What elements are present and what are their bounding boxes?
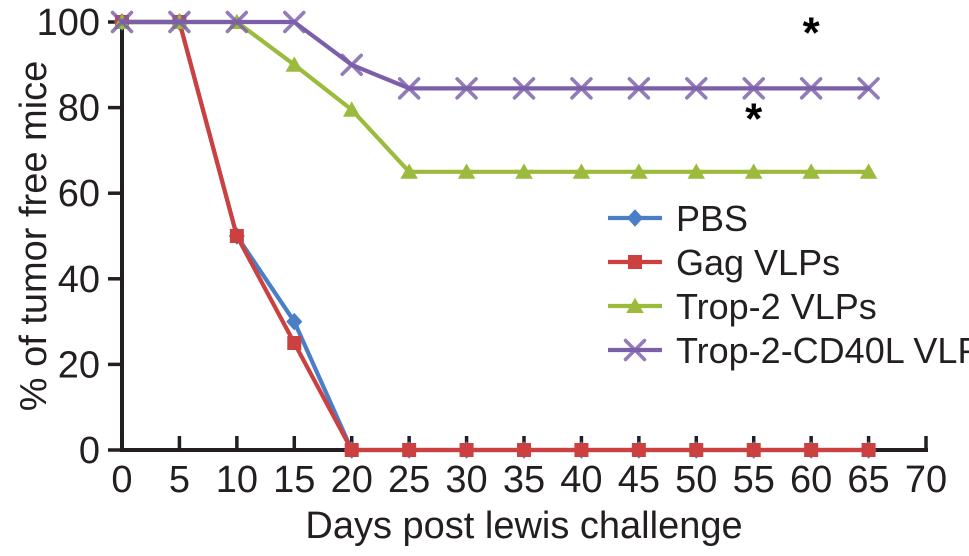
data-point-marker (517, 443, 531, 457)
x-tick-label: 40 (560, 459, 602, 501)
survival-chart-figure: 020406080100 051015202530354045505560657… (0, 0, 969, 556)
x-axis-title: Days post lewis challenge (305, 505, 742, 547)
data-point-marker (402, 443, 416, 457)
significance-asterisk: * (803, 9, 821, 58)
legend-label: Trop-2-CD40L VLPs (676, 330, 969, 371)
y-axis-title: % of tumor free mice (13, 61, 55, 412)
data-point-marker (345, 443, 359, 457)
series-trop-2-cd40l-vlps (113, 13, 878, 98)
legend-label: PBS (676, 198, 748, 239)
y-tick-label: 40 (58, 259, 100, 301)
data-point-marker (460, 443, 474, 457)
y-tick-label: 0 (79, 430, 100, 472)
x-tick-label: 60 (790, 459, 832, 501)
x-tick-label: 35 (503, 459, 545, 501)
x-tick-label: 0 (111, 459, 132, 501)
data-point-marker (230, 229, 244, 243)
x-tick-label: 55 (733, 459, 775, 501)
legend-label: Gag VLPs (676, 242, 840, 283)
data-point-marker (862, 443, 876, 457)
legend-label: Trop-2 VLPs (676, 286, 877, 327)
data-point-marker (804, 443, 818, 457)
x-tick-label: 65 (847, 459, 889, 501)
y-tick-label: 80 (58, 88, 100, 130)
x-tick-label: 50 (675, 459, 717, 501)
x-tick-label: 45 (618, 459, 660, 501)
x-tick-label: 10 (216, 459, 258, 501)
x-tick-label: 20 (331, 459, 373, 501)
x-tick-label: 15 (273, 459, 315, 501)
legend-item-trop-2-vlps: Trop-2 VLPs (608, 286, 877, 327)
legend-swatch-marker (627, 209, 643, 227)
data-series-group (113, 13, 878, 459)
significance-annotations: ** (745, 9, 820, 144)
legend-item-gag-vlps: Gag VLPs (608, 242, 840, 283)
significance-asterisk: * (745, 94, 763, 143)
y-tick-label: 100 (37, 2, 100, 44)
data-point-marker (632, 443, 646, 457)
y-tick-label: 60 (58, 173, 100, 215)
data-point-marker (342, 55, 361, 74)
legend-swatch-marker (628, 255, 642, 269)
legend-item-pbs: PBS (608, 198, 748, 239)
data-point-marker (747, 443, 761, 457)
x-tick-label: 25 (388, 459, 430, 501)
data-point-marker (574, 443, 588, 457)
x-tick-label: 70 (905, 459, 947, 501)
data-point-marker (689, 443, 703, 457)
series-line (122, 22, 869, 88)
x-tick-label: 5 (169, 459, 190, 501)
chart-canvas: 020406080100 051015202530354045505560657… (0, 0, 969, 556)
chart-legend: PBSGag VLPsTrop-2 VLPsTrop-2-CD40L VLPs (608, 198, 969, 371)
data-point-marker (287, 336, 301, 350)
y-tick-label: 20 (58, 344, 100, 386)
legend-item-trop-2-cd40l-vlps: Trop-2-CD40L VLPs (608, 330, 969, 371)
x-tick-label: 30 (445, 459, 487, 501)
